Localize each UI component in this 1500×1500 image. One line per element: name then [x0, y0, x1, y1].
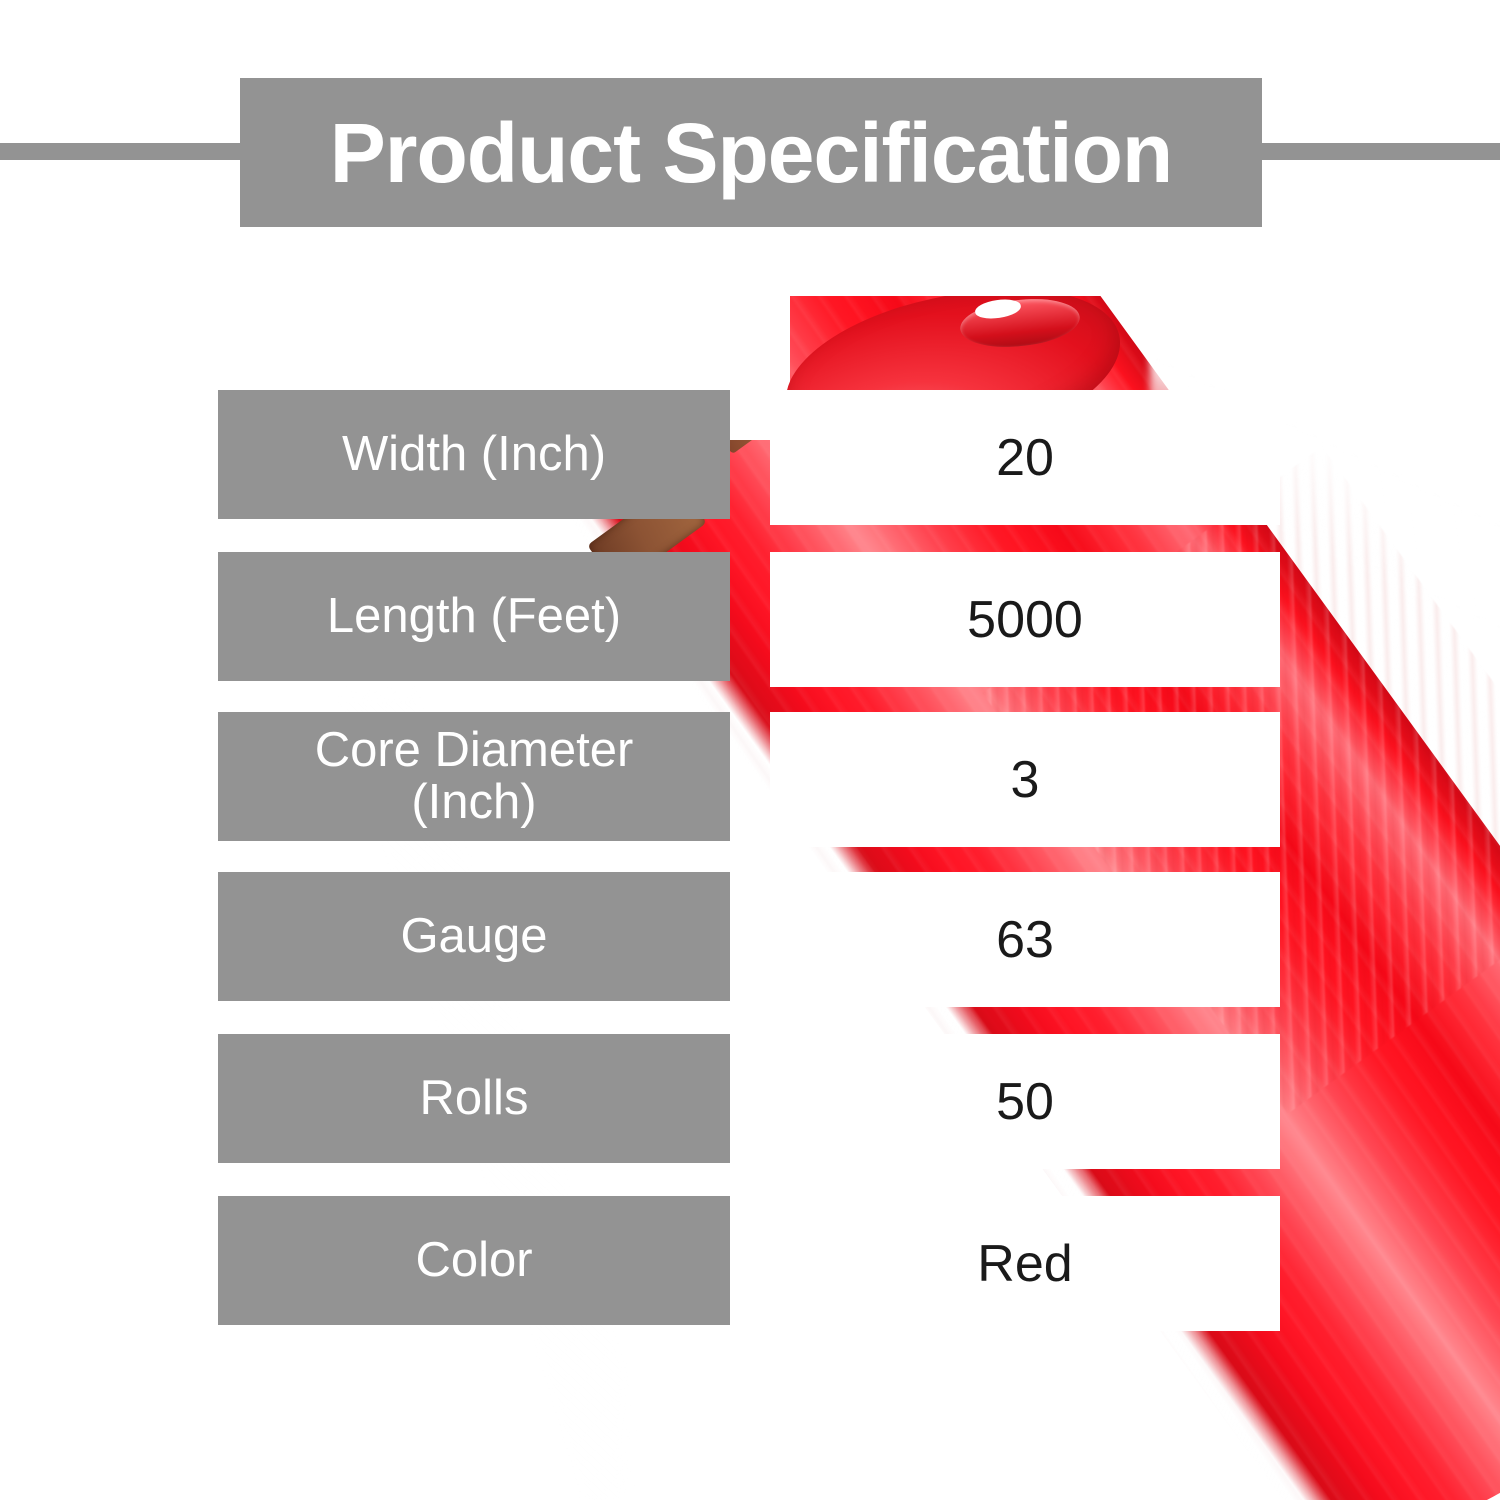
- specification-table: Width (Inch) 20 Length (Feet) 5000 Core …: [0, 0, 1500, 1500]
- spec-value-length-feet: 5000: [770, 552, 1280, 687]
- spec-label-core-diameter-inch: Core Diameter (Inch): [218, 712, 730, 841]
- product-specification-page: Product Specification Width (Inch) 20 Le…: [0, 0, 1500, 1500]
- spec-value-core-diameter-inch: 3: [770, 712, 1280, 847]
- spec-value-width-inch: 20: [770, 390, 1280, 525]
- spec-value-gauge: 63: [770, 872, 1280, 1007]
- spec-value-color: Red: [770, 1196, 1280, 1331]
- spec-value-rolls: 50: [770, 1034, 1280, 1169]
- spec-label-width-inch: Width (Inch): [218, 390, 730, 519]
- spec-label-length-feet: Length (Feet): [218, 552, 730, 681]
- spec-label-color: Color: [218, 1196, 730, 1325]
- spec-label-rolls: Rolls: [218, 1034, 730, 1163]
- spec-label-gauge: Gauge: [218, 872, 730, 1001]
